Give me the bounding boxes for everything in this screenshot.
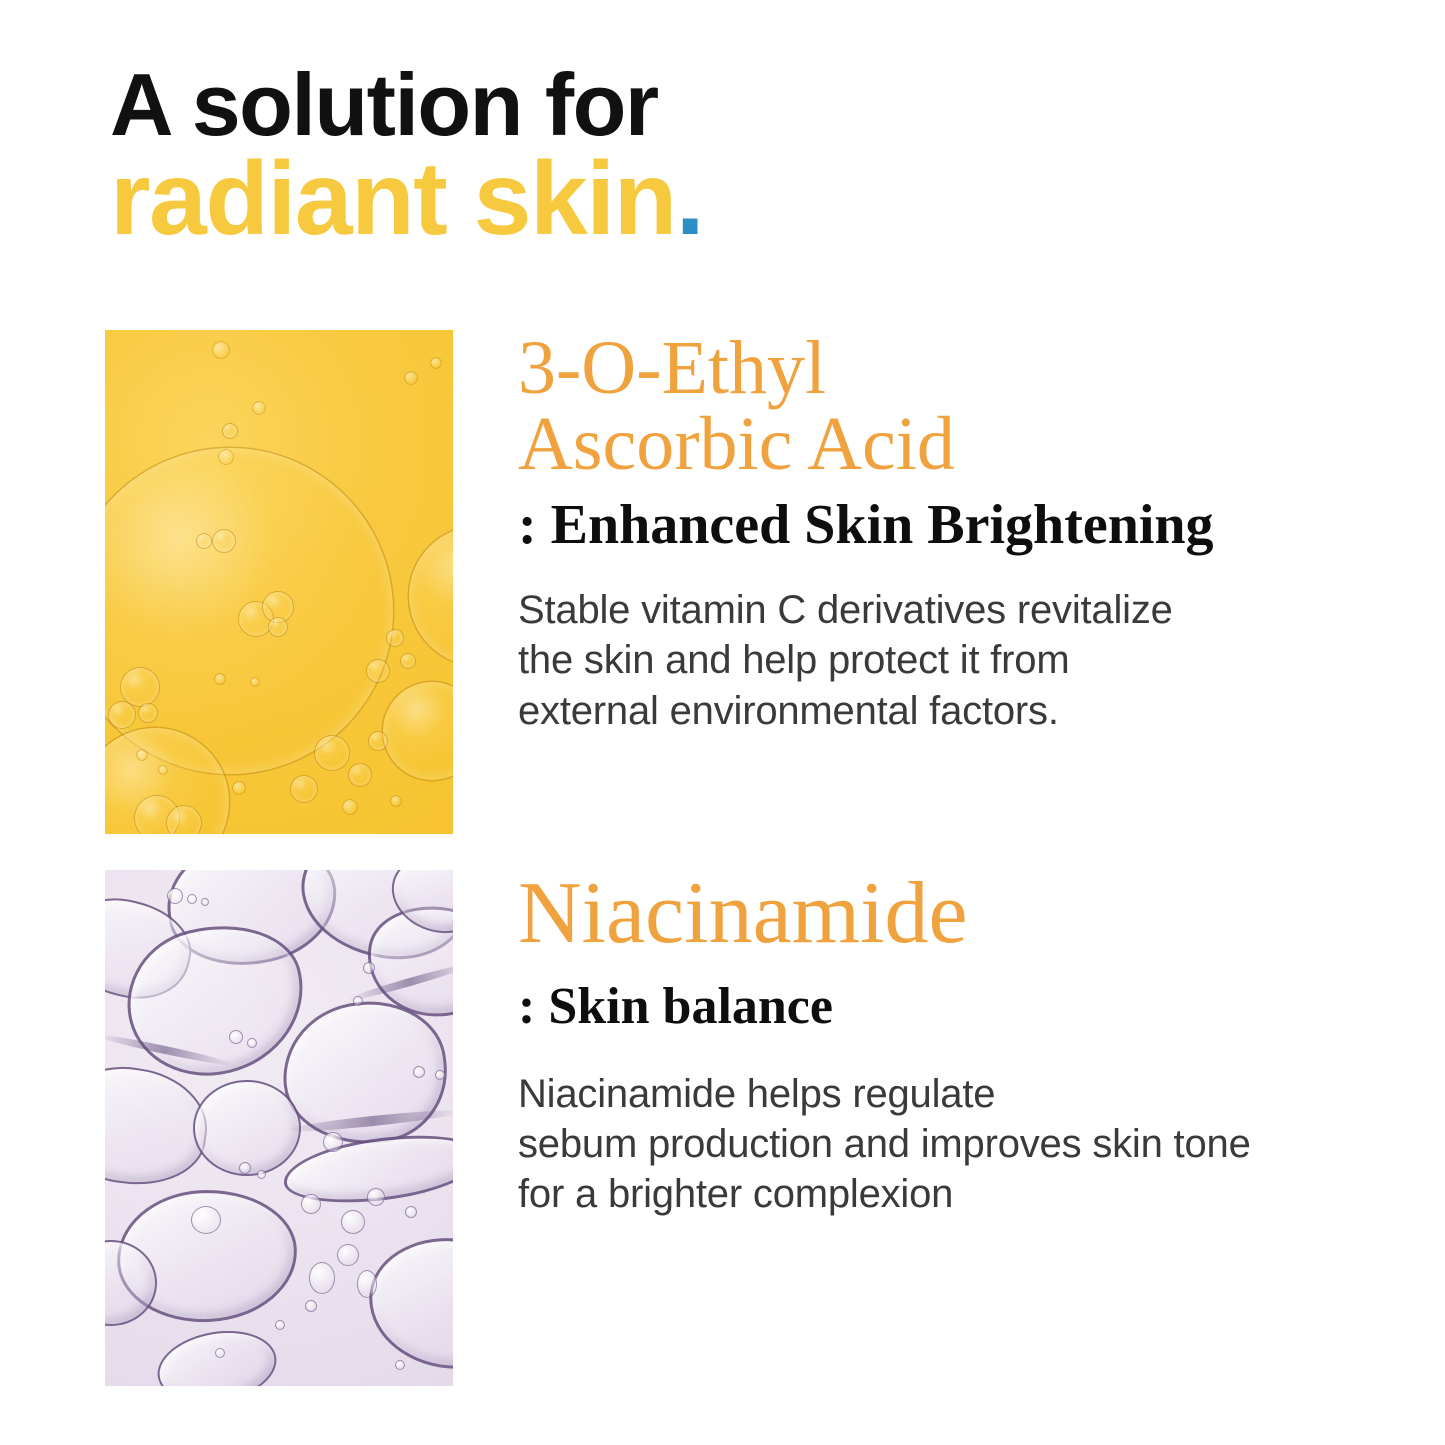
oil-drop-sm-7 xyxy=(369,732,387,750)
gel-bubble-6 xyxy=(323,1132,343,1152)
gel-cell-11 xyxy=(364,1231,453,1374)
gel-bubble-19 xyxy=(229,1030,243,1044)
description-line: for a brighter complexion xyxy=(518,1169,1418,1219)
purple-gel-bubbles-photo xyxy=(105,870,453,1386)
gel-bubble-20 xyxy=(247,1038,257,1048)
gel-bubble-12 xyxy=(337,1244,359,1266)
gel-bubble-8 xyxy=(191,1206,221,1234)
oil-drop-tiny-7 xyxy=(251,678,259,686)
oil-drop-sm-16 xyxy=(269,618,287,636)
oil-drop-tiny-4 xyxy=(405,372,417,384)
description-line: sebum production and improves skin tone xyxy=(518,1119,1418,1169)
gel-bubble-3 xyxy=(201,898,209,906)
oil-drop-sm-13 xyxy=(197,534,211,548)
gel-bubble-22 xyxy=(257,1170,266,1179)
oil-drop-tiny-6 xyxy=(215,674,225,684)
gel-bubble-11 xyxy=(367,1188,385,1206)
oil-drop-sm-18 xyxy=(167,806,201,834)
oil-drop-sm-5 xyxy=(349,764,371,786)
oil-drop-tiny-2 xyxy=(253,402,265,414)
description-line: Stable vitamin C derivatives revitalize xyxy=(518,585,1418,635)
ingredient-text-ascorbic-acid: 3-O-Ethyl Ascorbic Acid : Enhanced Skin … xyxy=(518,330,1418,736)
oil-drop-right xyxy=(409,526,453,666)
gel-bubble-16 xyxy=(275,1320,285,1330)
gel-bubble-5 xyxy=(353,996,363,1006)
gel-bubble-7 xyxy=(413,1066,425,1078)
ingredient-description-niacinamide: Niacinamide helps regulate sebum product… xyxy=(518,1069,1418,1220)
oil-drop-sm-4 xyxy=(315,736,349,770)
description-line: Niacinamide helps regulate xyxy=(518,1069,1418,1119)
oil-drop-sm-2 xyxy=(109,702,135,728)
ingredient-description-ascorbic-acid: Stable vitamin C derivatives revitalize … xyxy=(518,585,1418,736)
ingredient-name-ascorbic-acid: 3-O-Ethyl Ascorbic Acid xyxy=(518,330,1138,482)
gel-bubble-10 xyxy=(341,1210,365,1234)
gel-bubble-13 xyxy=(309,1262,335,1294)
gel-bubble-24 xyxy=(395,1360,405,1370)
headline-line-1: A solution for xyxy=(110,62,1360,147)
gel-bubble-14 xyxy=(357,1270,377,1298)
headline-accent-dot: . xyxy=(676,141,703,257)
oil-drop-sm-6 xyxy=(291,776,317,802)
oil-drop-sm-1 xyxy=(121,668,159,706)
gel-bubble-17 xyxy=(405,1206,417,1218)
ingredient-text-niacinamide: Niacinamide : Skin balance Niacinamide h… xyxy=(518,870,1418,1220)
ingredient-name-line-1: 3-O-Ethyl xyxy=(518,326,826,410)
ingredient-benefit-niacinamide: : Skin balance xyxy=(518,980,1418,1035)
oil-drop-sm-10 xyxy=(401,654,415,668)
oil-drop-tiny-1 xyxy=(213,342,229,358)
gel-bubble-23 xyxy=(215,1348,225,1358)
oil-drop-tiny-10 xyxy=(233,782,245,794)
oil-drop-sm-9 xyxy=(387,630,403,646)
oil-drop-tiny-9 xyxy=(391,796,401,806)
ingredient-name-line-2: Ascorbic Acid xyxy=(518,402,955,486)
infographic-page: A solution for radiant skin. xyxy=(0,0,1445,1445)
headline-line-2: radiant skin. xyxy=(110,149,1360,250)
ingredient-benefit-ascorbic-acid: : Enhanced Skin Brightening xyxy=(518,496,1418,555)
oil-drop-tiny-12 xyxy=(159,766,167,774)
oil-drop-sm-12 xyxy=(213,530,235,552)
gel-bubble-15 xyxy=(305,1300,317,1312)
oil-drop-sm-11 xyxy=(223,424,237,438)
oil-drop-sm-3 xyxy=(139,704,157,722)
gel-bubble-4 xyxy=(363,962,375,974)
oil-drop-tiny-5 xyxy=(431,358,441,368)
yellow-oil-bubbles-photo xyxy=(105,330,453,834)
gel-bubble-1 xyxy=(167,888,183,904)
oil-drop-tiny-3 xyxy=(219,450,233,464)
ingredient-name-niacinamide: Niacinamide xyxy=(518,870,1418,958)
gel-bubble-9 xyxy=(301,1194,321,1214)
gel-bubble-texture xyxy=(105,870,453,1386)
gel-bubble-18 xyxy=(435,1070,445,1080)
oil-drop-tiny-11 xyxy=(137,750,147,760)
oil-bubble-texture xyxy=(105,330,453,834)
gel-bubble-21 xyxy=(239,1162,251,1174)
oil-drop-sm-8 xyxy=(367,660,389,682)
page-title: A solution for radiant skin. xyxy=(110,62,1360,250)
description-line: the skin and help protect it from xyxy=(518,635,1418,685)
gel-bubble-2 xyxy=(187,894,197,904)
oil-drop-tiny-8 xyxy=(343,800,357,814)
description-line: external environmental factors. xyxy=(518,686,1418,736)
headline-line-2-text: radiant skin xyxy=(110,141,676,257)
oil-drop-lower-right xyxy=(383,682,453,780)
